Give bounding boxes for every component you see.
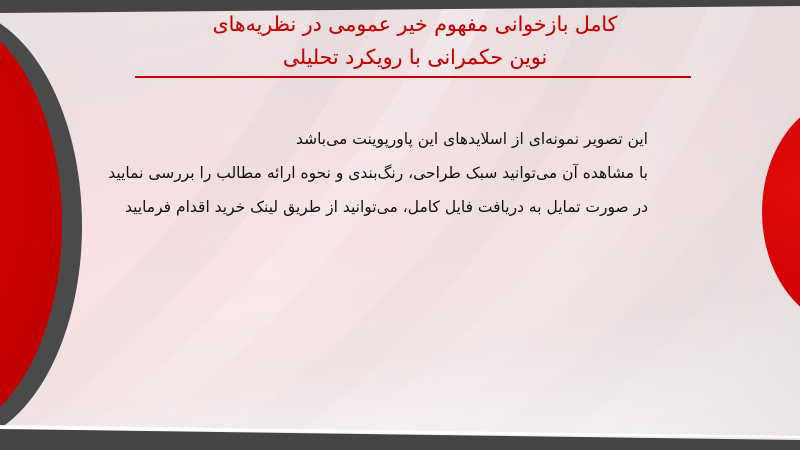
slide-title: کامل بازخوانی مفهوم خیر عمومی در نظریه‌ه… — [110, 8, 720, 74]
slide-title-line-1: کامل بازخوانی مفهوم خیر عمومی در نظریه‌ه… — [110, 8, 720, 41]
slide-title-line-2: نوین حکمرانی با رویکرد تحلیلی — [110, 41, 720, 74]
body-line-3: در صورت تمایل به دریافت فایل کامل، می‌تو… — [128, 190, 648, 224]
title-underline-rule — [135, 76, 691, 78]
body-line-1: این تصویر نمونه‌ای از اسلایدهای این پاور… — [128, 122, 648, 156]
body-line-2: با مشاهده آن می‌توانید سبک طراحی، رنگ‌بن… — [128, 156, 648, 190]
slide-canvas: کامل بازخوانی مفهوم خیر عمومی در نظریه‌ه… — [0, 0, 800, 450]
slide-body-text: این تصویر نمونه‌ای از اسلایدهای این پاور… — [128, 122, 648, 224]
